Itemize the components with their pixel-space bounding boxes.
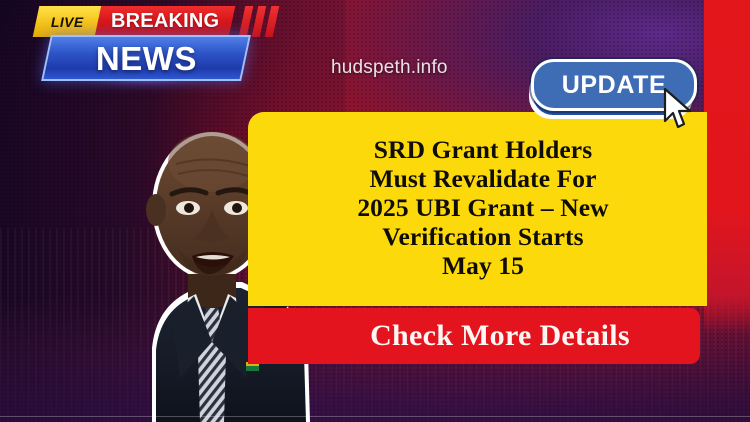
news-thumbnail-graphic: LIVE BREAKING NEWS hudspeth.info SRD Gra… <box>0 0 750 422</box>
page-title: SRD Grant Holders Must Revalidate For 20… <box>268 135 698 280</box>
bottom-divider <box>0 416 750 417</box>
live-badge: LIVE <box>33 6 102 37</box>
breaking-badge: BREAKING <box>95 6 236 37</box>
breaking-news-logo: LIVE BREAKING NEWS <box>36 4 266 86</box>
live-breaking-bar: LIVE BREAKING <box>33 6 236 37</box>
site-watermark: hudspeth.info <box>331 57 448 79</box>
headline-line: 2025 UBI Grant – New <box>268 193 698 222</box>
news-bar: NEWS <box>41 35 251 81</box>
slash-accent-icon <box>239 6 292 37</box>
mouse-cursor-icon <box>661 87 695 131</box>
live-label: LIVE <box>51 14 84 30</box>
cta-label: Check More Details <box>318 319 630 353</box>
headline-line: SRD Grant Holders <box>268 135 698 164</box>
headline-line: Must Revalidate For <box>268 164 698 193</box>
headline-line: Verification Starts <box>268 222 698 251</box>
check-more-details-button[interactable]: Check More Details <box>248 308 700 364</box>
headline-line: May 15 <box>268 251 698 280</box>
news-label: NEWS <box>96 42 197 75</box>
update-badge[interactable]: UPDATE <box>523 55 713 123</box>
update-label: UPDATE <box>562 71 667 100</box>
breaking-label: BREAKING <box>111 10 219 33</box>
right-red-band <box>704 0 750 334</box>
